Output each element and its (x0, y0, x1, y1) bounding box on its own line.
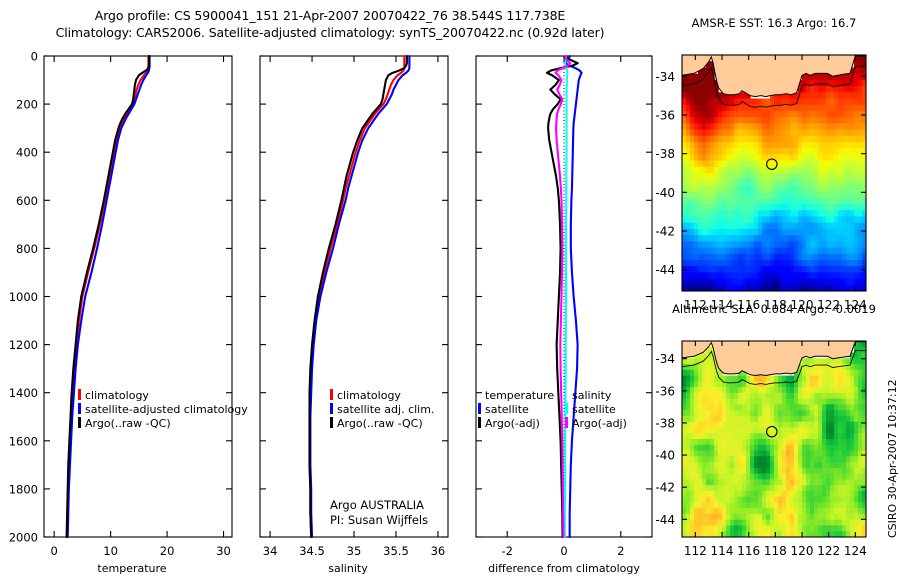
map-cell (854, 439, 859, 445)
map-cell (846, 173, 851, 180)
map-cell (846, 210, 851, 217)
map-cell (766, 502, 771, 508)
map-cell (714, 445, 719, 451)
map-cell (854, 148, 859, 155)
map-cell (690, 468, 695, 474)
map-cell (754, 520, 759, 526)
map-cell (806, 381, 811, 387)
map-cell (754, 433, 759, 439)
map-cell (698, 381, 703, 387)
map-cell (802, 198, 807, 205)
map-cell (714, 456, 719, 462)
map-cell (858, 451, 863, 457)
map-cell (834, 422, 839, 428)
map-cell (842, 98, 847, 105)
map-cell (694, 198, 699, 205)
map-cell (806, 260, 811, 267)
map-cell (770, 204, 775, 211)
map-cell (778, 123, 783, 130)
map-cell (710, 210, 715, 217)
map-cell (822, 399, 827, 405)
map-cell (702, 179, 707, 186)
map-cell (790, 130, 795, 137)
map-cell (814, 248, 819, 255)
map-cell (754, 514, 759, 520)
map-cell (850, 381, 855, 387)
map-cell (838, 497, 843, 503)
map-cell (734, 468, 739, 474)
map-cell (750, 462, 755, 468)
map-cell (738, 204, 743, 211)
map-cell (754, 136, 759, 143)
map-cell (694, 248, 699, 255)
map-cell (826, 173, 831, 180)
map-cell (794, 508, 799, 514)
map-cell (742, 416, 747, 422)
map-cell (790, 105, 795, 112)
map-cell (718, 433, 723, 439)
map-cell (794, 525, 799, 531)
map-cell (794, 456, 799, 462)
map-cell (822, 260, 827, 267)
map-cell (714, 474, 719, 480)
map-cell (762, 416, 767, 422)
map-cell (750, 416, 755, 422)
map-cell (814, 260, 819, 267)
map-cell (686, 376, 691, 382)
map-cell (770, 260, 775, 267)
map-cell (690, 260, 695, 267)
map-cell (806, 491, 811, 497)
map-cell (766, 451, 771, 457)
map-cell (702, 479, 707, 485)
map-cell (706, 370, 711, 376)
map-cell (830, 92, 835, 99)
map-cell (822, 416, 827, 422)
map-cell (846, 387, 851, 393)
map-cell (838, 387, 843, 393)
map-cell (698, 433, 703, 439)
map-cell (814, 279, 819, 286)
map-cell (726, 456, 731, 462)
map-cell (726, 142, 731, 149)
map-cell (850, 404, 855, 410)
map-cell (790, 179, 795, 186)
map-cell (826, 142, 831, 149)
map-cell (794, 399, 799, 405)
map-cell (714, 497, 719, 503)
map-cell (698, 474, 703, 480)
map-cell (690, 370, 695, 376)
map-cell (698, 451, 703, 457)
map-cell (718, 130, 723, 137)
map-cell (798, 117, 803, 124)
map-cell (694, 86, 699, 93)
map-cell (802, 173, 807, 180)
map-cell (758, 229, 763, 236)
map-cell (826, 204, 831, 211)
map-cell (838, 92, 843, 99)
map-cell (802, 370, 807, 376)
map-cell (830, 266, 835, 273)
map-cell (758, 210, 763, 217)
map-cell (790, 260, 795, 267)
map-cell (726, 525, 731, 531)
map-cell (822, 142, 827, 149)
map-cell (858, 61, 863, 68)
map-cell (842, 485, 847, 491)
map-cell (694, 279, 699, 286)
map-cell (702, 148, 707, 155)
map-cell (686, 381, 691, 387)
map-cell (838, 142, 843, 149)
map-cell (818, 520, 823, 526)
map-xaxis-tick-label: 122 (817, 544, 840, 558)
map-cell (834, 399, 839, 405)
map-cell (834, 216, 839, 223)
map-cell (802, 148, 807, 155)
map-cell (830, 485, 835, 491)
map-cell (778, 462, 783, 468)
map-cell (702, 216, 707, 223)
map-cell (710, 376, 715, 382)
map-cell (706, 387, 711, 393)
map-cell (738, 468, 743, 474)
map-cell (798, 130, 803, 137)
map-cell (818, 241, 823, 248)
map-cell (770, 416, 775, 422)
map-cell (794, 148, 799, 155)
map-cell (786, 235, 791, 242)
map-cell (806, 433, 811, 439)
map-cell (854, 427, 859, 433)
map-cell (762, 142, 767, 149)
map-cell (822, 74, 827, 81)
map-cell (702, 117, 707, 124)
map-cell (842, 248, 847, 255)
map-cell (698, 514, 703, 520)
map-cell (722, 272, 727, 279)
map-cell (850, 410, 855, 416)
map-cell (826, 508, 831, 514)
map-cell (718, 235, 723, 242)
map-cell (850, 167, 855, 174)
map-cell (842, 161, 847, 168)
map-cell (802, 192, 807, 199)
map-cell (766, 111, 771, 118)
map-cell (858, 427, 863, 433)
map-cell (718, 508, 723, 514)
map-cell (686, 364, 691, 370)
map-cell (822, 422, 827, 428)
map-cell (758, 525, 763, 531)
map-cell (770, 410, 775, 416)
map-cell (770, 445, 775, 451)
map-cell (858, 404, 863, 410)
map-cell (830, 456, 835, 462)
map-cell (854, 223, 859, 230)
map-cell (706, 508, 711, 514)
map-cell (834, 358, 839, 364)
map-cell (806, 427, 811, 433)
map-cell (822, 468, 827, 474)
map-cell (718, 520, 723, 526)
map-cell (794, 117, 799, 124)
map-cell (746, 260, 751, 267)
map-yaxis-tick-label: -44 (655, 513, 675, 527)
map-cell (770, 462, 775, 468)
map-cell (814, 381, 819, 387)
map-cell (746, 416, 751, 422)
map-cell (750, 254, 755, 261)
map-cell (722, 422, 727, 428)
map-cell (730, 491, 735, 497)
map-cell (706, 229, 711, 236)
map-cell (818, 223, 823, 230)
map-cell (722, 123, 727, 130)
map-cell (686, 185, 691, 192)
map-cell (694, 387, 699, 393)
map-cell (698, 364, 703, 370)
map-cell (706, 105, 711, 112)
map-cell (722, 485, 727, 491)
map-cell (806, 105, 811, 112)
map-cell (682, 525, 687, 531)
map-cell (710, 266, 715, 273)
map-cell (838, 130, 843, 137)
map-cell (854, 179, 859, 186)
map-cell (686, 491, 691, 497)
map-cell (814, 86, 819, 93)
map-cell (710, 198, 715, 205)
map-cell (806, 86, 811, 93)
map-cell (714, 381, 719, 387)
map-cell (850, 210, 855, 217)
map-cell (834, 142, 839, 149)
map-cell (830, 502, 835, 508)
map-cell (794, 111, 799, 118)
map-cell (798, 479, 803, 485)
map-cell (718, 381, 723, 387)
map-cell (734, 404, 739, 410)
map-cell (742, 393, 747, 399)
map-cell (694, 123, 699, 130)
map-cell (810, 508, 815, 514)
map-cell (834, 445, 839, 451)
map-cell (726, 173, 731, 180)
map-cell (822, 502, 827, 508)
map-cell (842, 376, 847, 382)
map-cell (770, 198, 775, 205)
map-cell (802, 497, 807, 503)
map-cell (754, 210, 759, 217)
map-yaxis-tick-label: -40 (655, 449, 675, 463)
map-cell (758, 185, 763, 192)
map-cell (726, 445, 731, 451)
map-cell (834, 514, 839, 520)
map-cell (754, 185, 759, 192)
map-cell (834, 136, 839, 143)
map-cell (850, 204, 855, 211)
map-cell (814, 210, 819, 217)
map-cell (830, 451, 835, 457)
map-cell (798, 248, 803, 255)
map-cell (826, 223, 831, 230)
map-cell (722, 468, 727, 474)
map-cell (754, 404, 759, 410)
map-cell (806, 167, 811, 174)
map-cell (738, 279, 743, 286)
map-cell (702, 198, 707, 205)
map-cell (838, 241, 843, 248)
map-cell (838, 456, 843, 462)
map-cell (838, 235, 843, 242)
map-cell (686, 173, 691, 180)
map-cell (722, 433, 727, 439)
map-cell (722, 173, 727, 180)
map-cell (706, 381, 711, 387)
map-cell (718, 404, 723, 410)
map-cell (738, 272, 743, 279)
map-cell (702, 92, 707, 99)
map-cell (806, 98, 811, 105)
map-cell (810, 216, 815, 223)
map-cell (850, 130, 855, 137)
map-cell (726, 192, 731, 199)
map-cell (714, 130, 719, 137)
map-cell (846, 74, 851, 81)
map-cell (710, 433, 715, 439)
map-cell (814, 74, 819, 81)
map-cell (686, 439, 691, 445)
map-cell (706, 210, 711, 217)
map-cell (842, 192, 847, 199)
map-cell (714, 161, 719, 168)
map-cell (694, 148, 699, 155)
map-cell (690, 427, 695, 433)
map-cell (818, 376, 823, 382)
map-cell (762, 223, 767, 230)
map-cell (754, 479, 759, 485)
map-cell (790, 410, 795, 416)
map-cell (762, 179, 767, 186)
map-cell (726, 508, 731, 514)
map-cell (746, 508, 751, 514)
map-cell (838, 462, 843, 468)
map-cell (846, 136, 851, 143)
map-cell (750, 111, 755, 118)
map-cell (778, 387, 783, 393)
map-cell (726, 98, 731, 105)
map-cell (834, 154, 839, 161)
map-cell (858, 179, 863, 186)
map-cell (750, 260, 755, 267)
map-cell (698, 105, 703, 112)
map-cell (682, 123, 687, 130)
map-cell (850, 393, 855, 399)
map-cell (786, 525, 791, 531)
map-cell (698, 445, 703, 451)
map-cell (846, 410, 851, 416)
map-cell (806, 210, 811, 217)
map-cell (774, 179, 779, 186)
map-cell (694, 399, 699, 405)
map-cell (738, 130, 743, 137)
map-cell (842, 497, 847, 503)
map-yaxis-tick-label: -38 (655, 416, 675, 430)
map-cell (794, 439, 799, 445)
map-cell (766, 279, 771, 286)
map-cell (738, 210, 743, 217)
map-cell (782, 514, 787, 520)
map-cell (834, 179, 839, 186)
map-xaxis-tick-label: 112 (684, 544, 707, 558)
map-cell (778, 439, 783, 445)
map-cell (814, 497, 819, 503)
map-cell (690, 123, 695, 130)
map-cell (706, 148, 711, 155)
map-cell (826, 167, 831, 174)
map-cell (846, 260, 851, 267)
map-cell (750, 105, 755, 112)
map-cell (750, 525, 755, 531)
map-cell (754, 173, 759, 180)
map-cell (774, 404, 779, 410)
map-cell (858, 456, 863, 462)
map-cell (750, 167, 755, 174)
map-cell (710, 491, 715, 497)
map-cell (754, 427, 759, 433)
map-cell (782, 279, 787, 286)
map-cell (750, 229, 755, 236)
map-cell (814, 185, 819, 192)
map-cell (846, 167, 851, 174)
map-cell (754, 260, 759, 267)
map-xaxis-tick-label: 120 (791, 544, 814, 558)
map-cell (786, 422, 791, 428)
map-cell (706, 358, 711, 364)
map-cell (706, 497, 711, 503)
map-cell (854, 235, 859, 242)
map-cell (710, 445, 715, 451)
map-cell (734, 399, 739, 405)
map-cell (694, 111, 699, 118)
map-cell (854, 387, 859, 393)
map-cell (706, 525, 711, 531)
map-cell (818, 204, 823, 211)
map-cell (766, 525, 771, 531)
map-cell (710, 204, 715, 211)
map-cell (846, 154, 851, 161)
map-cell (742, 491, 747, 497)
map-cell (686, 254, 691, 261)
map-cell (794, 410, 799, 416)
map-cell (734, 451, 739, 457)
map-cell (702, 192, 707, 199)
map-cell (778, 514, 783, 520)
map-cell (726, 266, 731, 273)
map-cell (822, 381, 827, 387)
map-cell (726, 241, 731, 248)
map-cell (686, 154, 691, 161)
map-cell (802, 98, 807, 105)
map-cell (810, 279, 815, 286)
map-cell (850, 223, 855, 230)
map-cell (850, 439, 855, 445)
map-cell (726, 520, 731, 526)
map-cell (738, 502, 743, 508)
map-cell (810, 427, 815, 433)
